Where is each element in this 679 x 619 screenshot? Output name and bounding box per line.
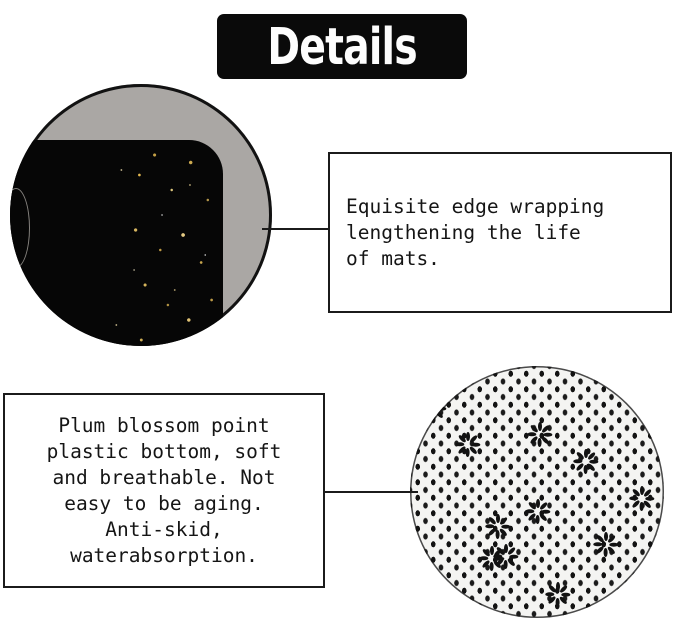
blossom-petal: [594, 542, 603, 546]
blossom-petal: [526, 509, 535, 513]
blossom-motif: [491, 541, 521, 571]
blossom-petal: [646, 496, 655, 500]
blossom-petal: [559, 584, 568, 593]
blossom-petal: [539, 512, 548, 521]
blossom-petal: [574, 459, 583, 463]
page-title: Details: [267, 21, 416, 72]
blossom-petal: [587, 462, 596, 471]
blossom-petal: [590, 459, 599, 463]
photo-gold-feather-mat: [10, 84, 272, 346]
blossom-petal: [546, 592, 555, 596]
gold-fine-speckle-overlay: [96, 140, 223, 346]
blossom-petal: [539, 501, 548, 510]
blossom-petal: [472, 442, 481, 446]
blossom-petal: [587, 451, 596, 460]
photo-plum-blossom-backing: [410, 366, 664, 618]
blossom-petal: [494, 554, 503, 558]
blossom-motif: [525, 419, 555, 449]
blossom-petal: [542, 509, 551, 513]
blossom-motif: [523, 496, 553, 526]
blossom-motif: [483, 511, 513, 541]
blossom-petal: [507, 557, 516, 566]
blossom-petal: [438, 406, 447, 410]
blossom-petal: [499, 527, 508, 536]
blossom-petal: [643, 488, 652, 497]
blossom-petal: [610, 542, 619, 546]
blossom-petal: [435, 409, 444, 418]
blossom-petal: [562, 592, 571, 596]
blossom-petal: [480, 556, 489, 560]
blossom-petal: [456, 442, 465, 446]
leader-line-edge-wrapping: [262, 228, 332, 230]
callout-plum-blossom-bottom: Plum blossom point plastic bottom, soft …: [3, 393, 325, 588]
blossom-petal: [541, 424, 550, 433]
blossom-petal: [469, 445, 478, 454]
blossom-motif: [571, 446, 601, 476]
blossom-petal: [507, 546, 516, 555]
blossom-petal: [499, 516, 508, 525]
blossom-petal: [510, 554, 519, 558]
blossom-petal: [643, 499, 652, 508]
blossom-petal: [435, 398, 444, 407]
blossom-petal: [541, 435, 550, 444]
details-infographic: Details Equisite edge wrapping lengtheni…: [0, 0, 679, 619]
blossom-motif: [419, 393, 449, 423]
leader-line-plum-blossom: [322, 491, 418, 493]
blossom-petal: [630, 496, 639, 500]
callout-edge-wrapping: Equisite edge wrapping lengthening the l…: [328, 152, 672, 313]
blossom-petal: [607, 534, 616, 543]
blossom-petal: [528, 432, 537, 436]
blossom-petal: [422, 406, 431, 410]
callout-plum-blossom-bottom-text: Plum blossom point plastic bottom, soft …: [15, 413, 313, 569]
blossom-motif: [627, 483, 657, 513]
blossom-motif: [453, 429, 483, 459]
blossom-petal: [607, 545, 616, 554]
blossom-motif: [591, 529, 621, 559]
blossom-petal: [559, 595, 568, 604]
blossom-petal: [502, 524, 511, 528]
blossom-petal: [486, 524, 495, 528]
details-header-banner: Details: [217, 14, 467, 79]
blossom-petal: [544, 432, 553, 436]
callout-edge-wrapping-text: Equisite edge wrapping lengthening the l…: [346, 194, 662, 272]
blossom-petal: [469, 434, 478, 443]
blossom-motif: [543, 579, 573, 609]
